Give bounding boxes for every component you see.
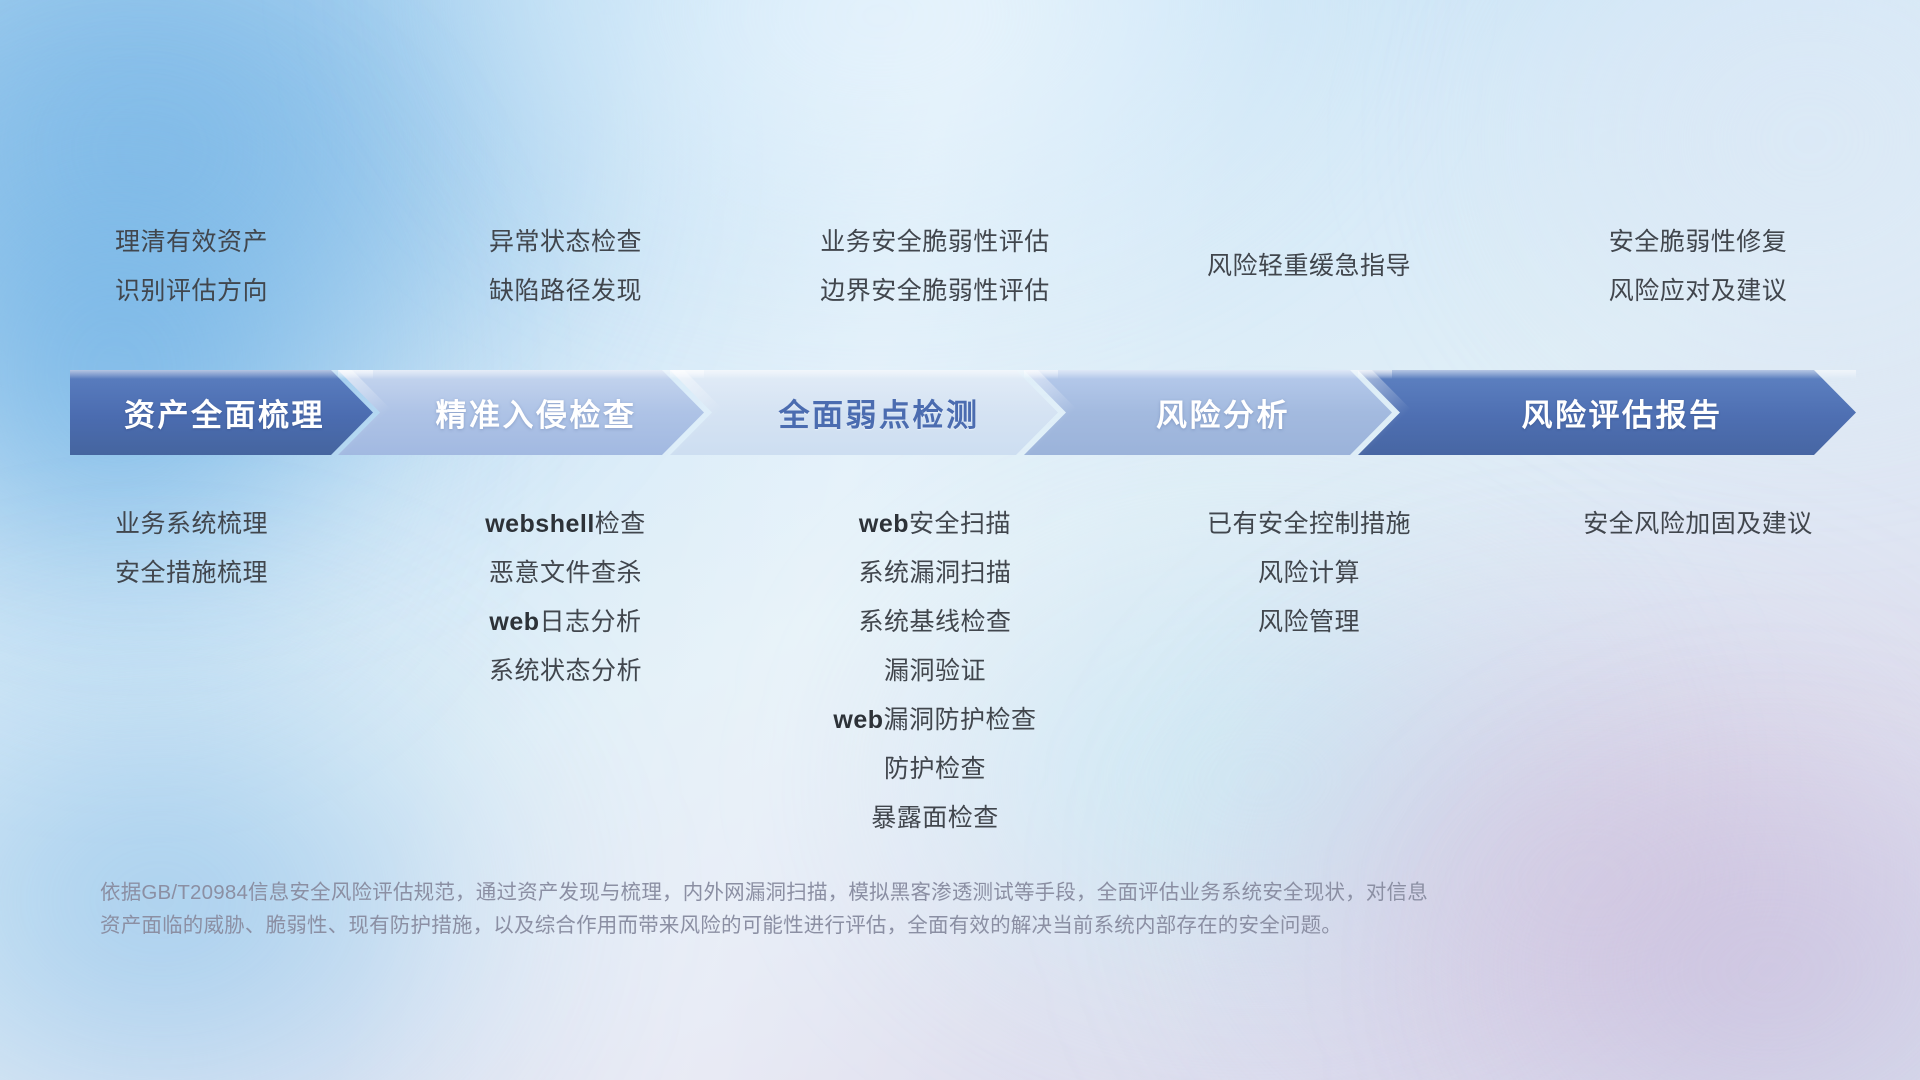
detail-text: 业务系统梳理 (115, 500, 268, 549)
detail-body: 日志分析 (540, 608, 642, 636)
process-stage-chevron-3[interactable]: 全面弱点检测 (670, 370, 1058, 455)
detail-text: 缺陷路径发现 (489, 267, 642, 316)
detail-body: 安全扫描 (909, 510, 1011, 538)
bottom-details-row: 业务系统梳理 安全措施梳理 webshell检查 恶意文件查杀 web日志分析 … (0, 500, 1920, 800)
detail-text: 安全脆弱性修复 (1609, 218, 1788, 267)
detail-prefix: webshell (485, 510, 595, 538)
detail-prefix: web (489, 608, 539, 636)
process-stage-chevron-2[interactable]: 精准入侵检查 (338, 370, 704, 455)
detail-text: 风险应对及建议 (1609, 267, 1788, 316)
stage-5-top-details: 安全脆弱性修复 风险应对及建议 (1496, 218, 1900, 346)
detail-body: 系统漏洞扫描 (858, 559, 1011, 587)
detail-text: web漏洞防护检查 (833, 696, 1036, 745)
detail-body: 风险管理 (1258, 608, 1360, 636)
process-stage-chevron-4[interactable]: 风险分析 (1024, 370, 1392, 455)
detail-prefix: web (859, 510, 909, 538)
stage-3-top-details: 业务安全脆弱性评估 边界安全脆弱性评估 (748, 218, 1122, 346)
process-stage-chevron-1[interactable]: 资产全面梳理 (70, 370, 373, 455)
detail-body: 业务系统梳理 (115, 510, 268, 538)
detail-text: 业务安全脆弱性评估 (820, 218, 1050, 267)
detail-text: 异常状态检查 (489, 218, 642, 267)
detail-text: web安全扫描 (859, 500, 1011, 549)
process-stage-label-4: 风险分析 (1126, 390, 1290, 435)
detail-body: 暴露面检查 (871, 804, 999, 832)
detail-text: 安全措施梳理 (115, 549, 268, 598)
detail-text: webshell检查 (485, 500, 646, 549)
detail-prefix: web (833, 706, 883, 734)
detail-text: 风险计算 (1258, 549, 1360, 598)
top-details-row: 理清有效资产 识别评估方向 异常状态检查 缺陷路径发现 业务安全脆弱性评估 边界… (0, 218, 1920, 346)
chevron-gloss (670, 370, 1058, 379)
process-stage-label-3: 全面弱点检测 (749, 390, 980, 435)
stage-4-bottom-details: 已有安全控制措施 风险计算 风险管理 (1122, 500, 1496, 647)
detail-text: 风险轻重缓急指导 (1207, 242, 1411, 291)
footer-description: 依据GB/T20984信息安全风险评估规范，通过资产发现与梳理，内外网漏洞扫描，… (100, 876, 1620, 942)
detail-body: 漏洞验证 (884, 657, 986, 685)
footer-line-2: 资产面临的威胁、脆弱性、现有防护措施，以及综合作用而带来风险的可能性进行评估，全… (100, 909, 1620, 942)
stage-1-top-details: 理清有效资产 识别评估方向 (0, 218, 383, 346)
detail-body: 安全措施梳理 (115, 559, 268, 587)
detail-text: 系统漏洞扫描 (858, 549, 1011, 598)
chevron-gloss (338, 370, 704, 379)
detail-body: 安全风险加固及建议 (1583, 510, 1813, 538)
stage-1-bottom-details: 业务系统梳理 安全措施梳理 (0, 500, 383, 598)
detail-body: 漏洞防护检查 (884, 706, 1037, 734)
footer-line-1: 依据GB/T20984信息安全风险评估规范，通过资产发现与梳理，内外网漏洞扫描，… (100, 876, 1620, 909)
chevron-gloss (1358, 370, 1856, 379)
detail-body: 恶意文件查杀 (489, 559, 642, 587)
process-stage-chevron-5[interactable]: 风险评估报告 (1358, 370, 1856, 455)
process-stage-label-2: 精准入侵检查 (406, 390, 637, 435)
detail-text: 边界安全脆弱性评估 (820, 267, 1050, 316)
detail-text: 已有安全控制措施 (1207, 500, 1411, 549)
detail-text: web日志分析 (489, 598, 641, 647)
detail-body: 系统状态分析 (489, 657, 642, 685)
detail-text: 防护检查 (884, 745, 986, 794)
stage-2-top-details: 异常状态检查 缺陷路径发现 (383, 218, 748, 346)
detail-text: 理清有效资产 (115, 218, 268, 267)
process-stage-label-5: 风险评估报告 (1492, 390, 1723, 435)
detail-text: 安全风险加固及建议 (1583, 500, 1813, 549)
detail-body: 已有安全控制措施 (1207, 510, 1411, 538)
detail-body: 风险计算 (1258, 559, 1360, 587)
detail-body: 防护检查 (884, 755, 986, 783)
stage-3-bottom-details: web安全扫描 系统漏洞扫描 系统基线检查 漏洞验证 web漏洞防护检查 防护检… (748, 500, 1122, 843)
detail-text: 暴露面检查 (871, 794, 999, 843)
process-stage-label-1: 资产全面梳理 (118, 390, 325, 435)
detail-text: 系统状态分析 (489, 647, 642, 696)
stage-2-bottom-details: webshell检查 恶意文件查杀 web日志分析 系统状态分析 (383, 500, 748, 696)
detail-body: 系统基线检查 (858, 608, 1011, 636)
stage-4-top-details: 风险轻重缓急指导 (1122, 218, 1496, 346)
detail-text: 风险管理 (1258, 598, 1360, 647)
detail-text: 系统基线检查 (858, 598, 1011, 647)
process-chevron-band: 资产全面梳理 精准入侵检查 全面弱点检测 风险分析 (70, 370, 1856, 455)
chevron-gloss (1024, 370, 1392, 379)
stage-5-bottom-details: 安全风险加固及建议 (1496, 500, 1900, 549)
chevron-gloss (70, 370, 373, 379)
detail-text: 漏洞验证 (884, 647, 986, 696)
detail-text: 识别评估方向 (115, 267, 268, 316)
infographic-canvas: 理清有效资产 识别评估方向 异常状态检查 缺陷路径发现 业务安全脆弱性评估 边界… (0, 0, 1920, 1080)
detail-body: 检查 (595, 510, 646, 538)
detail-text: 恶意文件查杀 (489, 549, 642, 598)
